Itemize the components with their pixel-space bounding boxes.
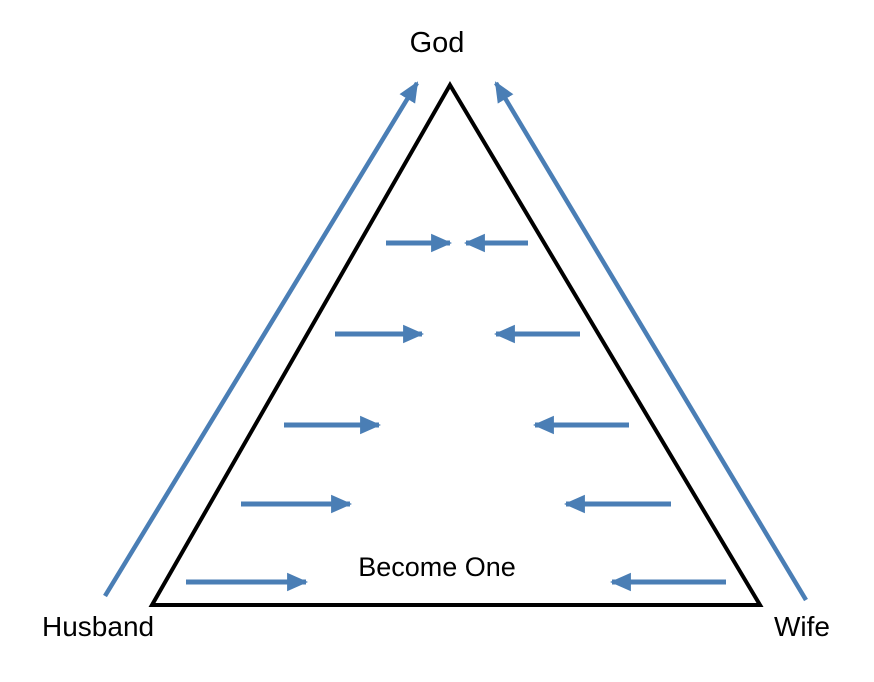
outer-arrow-husband-to-god [105, 83, 417, 596]
diagram-canvas: God Become One Husband Wife [0, 0, 874, 682]
outer-arrow-wife-to-god [496, 83, 806, 600]
center-label-become-one: Become One [0, 554, 874, 581]
corner-label-wife: Wife [774, 613, 830, 641]
triangle-outline [152, 85, 760, 605]
apex-label-god: God [0, 29, 874, 58]
corner-label-husband: Husband [42, 613, 154, 641]
